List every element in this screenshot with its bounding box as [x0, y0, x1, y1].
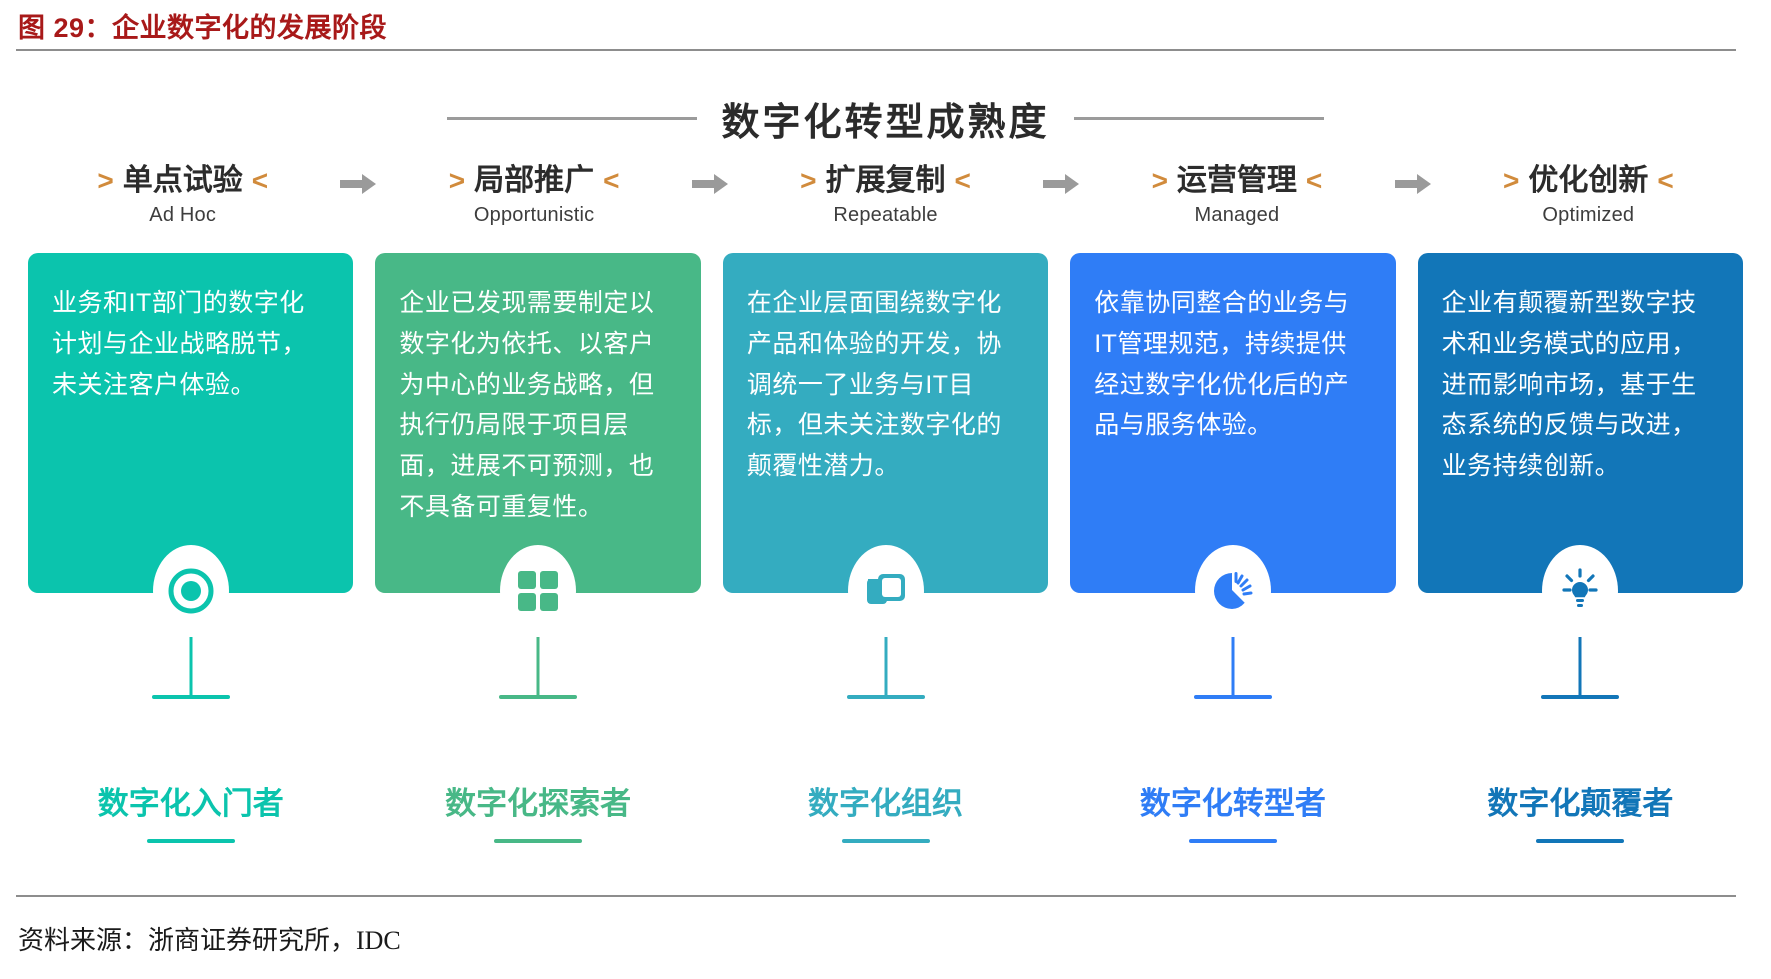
stage-name-cn: 运营管理	[1177, 162, 1297, 200]
stage-name-en: Opportunistic	[474, 204, 594, 227]
close-bracket-icon: <	[1306, 163, 1322, 198]
stage-card-3[interactable]: 在企业层面围绕数字化产品和体验的开发，协调统一了业务与IT目标，但未关注数字化的…	[723, 253, 1048, 593]
stage-card-2[interactable]: 企业已发现需要制定以数字化为依托、以客户为中心的业务战略，但执行仍局限于项目层面…	[375, 253, 700, 593]
stage-name-en: Ad Hoc	[149, 204, 216, 227]
stage-name-cn-wrap: > 单点试验 <	[97, 162, 268, 200]
copy-layers-icon	[864, 569, 908, 613]
stage-label-4[interactable]: > 运营管理 < Managed	[1082, 162, 1391, 227]
stage-marker-4	[1194, 695, 1272, 699]
stage-medallion-5[interactable]	[1542, 545, 1618, 637]
outcome-underline	[1536, 839, 1624, 843]
outcome-2[interactable]: 数字化探索者	[375, 778, 700, 843]
figure-title: 图 29：企业数字化的发展阶段	[18, 6, 387, 45]
outcome-label: 数字化组织	[808, 778, 963, 823]
stage-name-en: Managed	[1195, 204, 1280, 227]
maturity-headline-row: 数字化转型成熟度	[0, 90, 1771, 146]
stage-label-3[interactable]: > 扩展复制 < Repeatable	[731, 162, 1040, 227]
stage-marker-5	[1541, 695, 1619, 699]
outcome-name-row: 数字化入门者 数字化探索者 数字化组织 数字化转型者 数字化颠覆者	[28, 778, 1743, 843]
outcome-1[interactable]: 数字化入门者	[28, 778, 353, 843]
stage-card-1[interactable]: 业务和IT部门的数字化计划与企业战略脱节，未关注客户体验。	[28, 253, 353, 593]
stage-name-cn: 优化创新	[1528, 162, 1648, 200]
stage-card-wrap-4: 依靠协同整合的业务与IT管理规范，持续提供经过数字化优化后的产品与服务体验。	[1070, 253, 1395, 673]
stage-marker-2	[499, 695, 577, 699]
stage-stem-5	[1579, 637, 1582, 695]
stage-card-row: 业务和IT部门的数字化计划与企业战略脱节，未关注客户体验。 企业已发现需要制定以…	[28, 253, 1743, 673]
stage-card-wrap-2: 企业已发现需要制定以数字化为依托、以客户为中心的业务战略，但执行仍局限于项目层面…	[375, 253, 700, 673]
close-bracket-icon: <	[603, 163, 619, 198]
outcome-label: 数字化入门者	[98, 778, 284, 823]
lightbulb-icon	[1557, 568, 1603, 614]
outcome-underline	[147, 839, 235, 843]
stage-medallion-1[interactable]	[153, 545, 229, 637]
stage-card-4[interactable]: 依靠协同整合的业务与IT管理规范，持续提供经过数字化优化后的产品与服务体验。	[1070, 253, 1395, 593]
stage-name-cn: 单点试验	[123, 162, 243, 200]
stage-arrow-1	[337, 162, 379, 202]
pie-chart-icon	[1211, 569, 1255, 613]
headline-rule-left	[447, 117, 697, 120]
open-bracket-icon: >	[449, 163, 465, 198]
footer-divider	[16, 895, 1736, 897]
stage-marker-3	[847, 695, 925, 699]
stage-name-cn: 扩展复制	[826, 162, 946, 200]
maturity-headline: 数字化转型成熟度	[721, 91, 1049, 146]
outcome-3[interactable]: 数字化组织	[723, 778, 1048, 843]
close-bracket-icon: <	[252, 163, 268, 198]
stage-card-wrap-5: 企业有颠覆新型数字技术和业务模式的应用，进而影响市场，基于生态系统的反馈与改进，…	[1418, 253, 1743, 673]
stage-marker-1	[152, 695, 230, 699]
outcome-4[interactable]: 数字化转型者	[1070, 778, 1395, 843]
stage-stem-1	[189, 637, 192, 695]
stage-medallion-2[interactable]	[500, 545, 576, 637]
grid-icon	[517, 570, 559, 612]
target-icon	[168, 568, 214, 614]
outcome-underline	[842, 839, 930, 843]
open-bracket-icon: >	[97, 163, 113, 198]
outcome-label: 数字化转型者	[1140, 778, 1326, 823]
close-bracket-icon: <	[955, 163, 971, 198]
stage-card-wrap-1: 业务和IT部门的数字化计划与企业战略脱节，未关注客户体验。	[28, 253, 353, 673]
stage-label-strip: > 单点试验 < Ad Hoc > 局部推广 < Opportunistic >…	[28, 162, 1743, 227]
stage-medallion-3[interactable]	[848, 545, 924, 637]
header-divider	[16, 49, 1736, 51]
stage-label-5[interactable]: > 优化创新 < Optimized	[1434, 162, 1743, 227]
stage-stem-2	[537, 637, 540, 695]
stage-card-5[interactable]: 企业有颠覆新型数字技术和业务模式的应用，进而影响市场，基于生态系统的反馈与改进，…	[1418, 253, 1743, 593]
stage-stem-3	[884, 637, 887, 695]
outcome-5[interactable]: 数字化颠覆者	[1418, 778, 1743, 843]
open-bracket-icon: >	[1152, 163, 1168, 198]
stage-name-cn-wrap: > 运营管理 <	[1152, 162, 1323, 200]
headline-rule-right	[1074, 117, 1324, 120]
stage-name-en: Repeatable	[833, 204, 937, 227]
stage-arrow-2	[689, 162, 731, 202]
stage-name-cn-wrap: > 扩展复制 <	[800, 162, 971, 200]
close-bracket-icon: <	[1657, 163, 1673, 198]
stage-name-cn: 局部推广	[474, 162, 594, 200]
open-bracket-icon: >	[800, 163, 816, 198]
stage-name-cn-wrap: > 局部推广 <	[449, 162, 620, 200]
stage-arrow-4	[1392, 162, 1434, 202]
source-note: 资料来源：浙商证券研究所，IDC	[18, 920, 401, 957]
outcome-label: 数字化颠覆者	[1487, 778, 1673, 823]
stage-name-cn-wrap: > 优化创新 <	[1503, 162, 1674, 200]
outcome-underline	[494, 839, 582, 843]
outcome-underline	[1189, 839, 1277, 843]
stage-label-2[interactable]: > 局部推广 < Opportunistic	[379, 162, 688, 227]
stage-name-en: Optimized	[1542, 204, 1634, 227]
stage-medallion-4[interactable]	[1195, 545, 1271, 637]
stage-stem-4	[1231, 637, 1234, 695]
stage-arrow-3	[1040, 162, 1082, 202]
open-bracket-icon: >	[1503, 163, 1519, 198]
stage-label-1[interactable]: > 单点试验 < Ad Hoc	[28, 162, 337, 227]
outcome-label: 数字化探索者	[445, 778, 631, 823]
stage-card-wrap-3: 在企业层面围绕数字化产品和体验的开发，协调统一了业务与IT目标，但未关注数字化的…	[723, 253, 1048, 673]
